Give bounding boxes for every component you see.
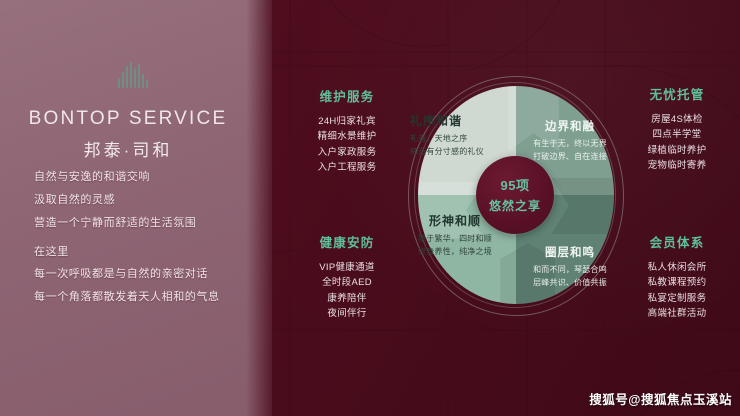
brand-title-group: BONTOP SERVICE 邦泰·司和 <box>0 108 256 161</box>
category-item: 私人休闲会所 <box>622 260 732 275</box>
quadrant-label-4: 圈层和鸣 和而不同，琴瑟合鸣 层峰共识、价值共振 <box>510 244 630 290</box>
poem-line: 营造一个宁静而舒适的生活氛围 <box>34 216 262 231</box>
category-membership: 会员体系 私人休闲会所 私教课程预约 私宴定制服务 高端社群活动 <box>622 232 732 322</box>
category-title: 健康安防 <box>292 232 402 251</box>
category-health: 健康安防 VIP健康通道 全时段AED 康养陪伴 夜间伴行 <box>292 232 402 322</box>
category-item: 绿植临时养护 <box>622 143 732 158</box>
category-item: 夜间伴行 <box>292 306 402 321</box>
poem-line: 自然与安逸的和谐交响 <box>34 170 262 185</box>
brand-name-en: BONTOP SERVICE <box>0 108 256 131</box>
category-item: 全时段AED <box>292 275 402 290</box>
quadrant-label-1: 礼序和谐 礼者，天地之序 缔造有分寸感的礼仪 <box>410 112 514 159</box>
category-item: 康养陪伴 <box>292 291 402 306</box>
diagram-core-badge: 95项 悠然之享 <box>476 156 554 234</box>
slide-root: BONTOP SERVICE 邦泰·司和 自然与安逸的和谐交响 汲取自然的灵感 … <box>0 0 740 416</box>
category-item: 房屋4S体检 <box>622 112 732 127</box>
category-item: 精细水景维护 <box>292 129 402 144</box>
quadrant-title: 礼序和谐 <box>410 112 514 129</box>
category-item: 高端社群活动 <box>622 306 732 321</box>
category-item: 宠物临时寄养 <box>622 158 732 173</box>
quadrant-desc-line: 缔造有分寸感的礼仪 <box>410 146 514 159</box>
quadrant-desc-line: 有生于无，终以无界 <box>514 138 626 151</box>
poem-line: 在这里 <box>34 245 262 260</box>
category-title: 会员体系 <box>622 232 732 251</box>
category-item: 私教课程预约 <box>622 275 732 290</box>
quadrant-title: 边界和融 <box>514 118 626 134</box>
equalizer-bars-icon <box>118 62 148 88</box>
category-item: 24H归家礼宾 <box>292 114 402 129</box>
core-count: 95项 <box>501 175 530 194</box>
category-item: VIP健康通道 <box>292 260 402 275</box>
brand-panel: BONTOP SERVICE 邦泰·司和 自然与安逸的和谐交响 汲取自然的灵感 … <box>0 0 272 416</box>
quadrant-desc-line: 层峰共识、价值共振 <box>510 277 630 290</box>
quadrant-desc-line: 和而不同，琴瑟合鸣 <box>510 264 630 277</box>
quadrant-desc-line: 礼者，天地之序 <box>410 133 514 146</box>
poem-line: 每一次呼吸都是与自然的亲密对话 <box>34 267 262 282</box>
brand-name-cn: 邦泰·司和 <box>0 136 256 161</box>
category-item: 入户工程服务 <box>292 160 402 175</box>
watermark-text: 搜狐号@搜狐焦点玉溪站 <box>589 389 732 408</box>
category-title: 无忧托管 <box>622 84 732 103</box>
quadrant-desc-line: 隐于繁华，四时和顺 <box>402 233 508 246</box>
core-label: 悠然之享 <box>489 197 541 214</box>
category-item: 入户家政服务 <box>292 145 402 160</box>
brand-poem: 自然与安逸的和谐交响 汲取自然的灵感 营造一个宁静而舒适的生活氛围 在这里 每一… <box>34 170 262 313</box>
quadrant-desc-line: 修身养性，纯净之境 <box>402 246 508 259</box>
poem-line: 汲取自然的灵感 <box>34 193 262 208</box>
quadrant-label-2: 边界和融 有生于无，终以无界 打破边界、自在连接 <box>514 118 626 164</box>
category-title: 维护服务 <box>292 86 402 105</box>
category-item: 私宴定制服务 <box>622 291 732 306</box>
category-maintenance: 维护服务 24H归家礼宾 精细水景维护 入户家政服务 入户工程服务 <box>292 86 402 176</box>
category-item: 四点半学堂 <box>622 127 732 142</box>
poem-line: 每一个角落都散发着天人相和的气息 <box>34 290 262 305</box>
category-hosting: 无忧托管 房屋4S体检 四点半学堂 绿植临时养护 宠物临时寄养 <box>622 84 732 174</box>
concept-circle-diagram: 礼序和谐 礼者，天地之序 缔造有分寸感的礼仪 边界和融 有生于无，终以无界 打破… <box>400 72 630 317</box>
quadrant-title: 圈层和鸣 <box>510 244 630 260</box>
